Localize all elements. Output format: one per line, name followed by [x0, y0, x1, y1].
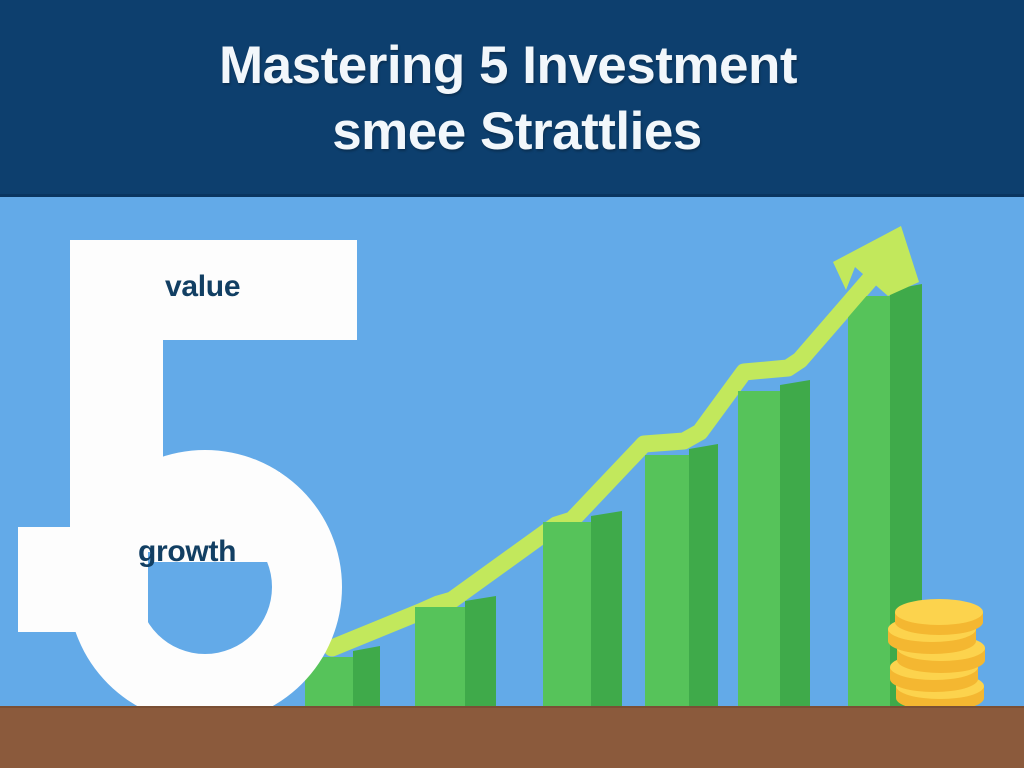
title-line-2: smee Strattlies — [332, 99, 702, 165]
ground-strip — [0, 706, 1024, 768]
bar-2 — [415, 596, 496, 706]
bar-3 — [543, 511, 622, 706]
bar-6 — [848, 284, 922, 706]
bar-5 — [738, 380, 810, 706]
title-line-1: Mastering 5 Investment — [219, 33, 797, 99]
poster-canvas: value growth Mastering 5 Investment smee… — [0, 0, 1024, 768]
growth-label: growth — [138, 537, 236, 567]
title-banner: Mastering 5 Investment smee Strattlies — [0, 0, 1024, 197]
value-label: value — [165, 272, 240, 302]
bar-4 — [645, 444, 718, 706]
